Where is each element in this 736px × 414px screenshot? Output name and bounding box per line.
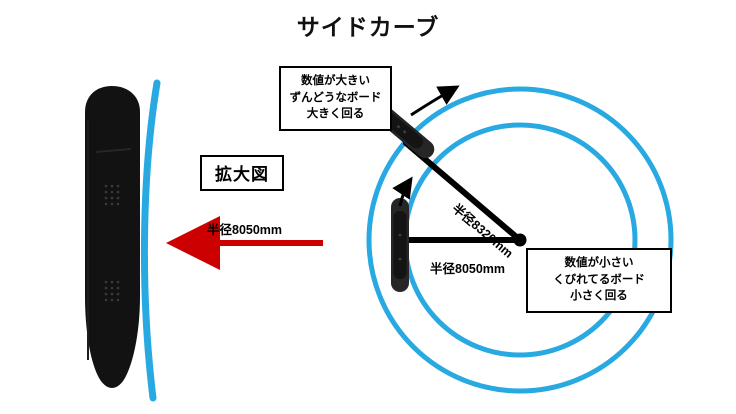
radius-label-inner: 半径8050mm	[430, 258, 505, 277]
callout-big-line3: 大きく回る	[289, 106, 382, 123]
callout-big-line1: 数値が大きい	[289, 73, 382, 90]
diagram-canvas	[0, 0, 736, 414]
callout-big-line2: ずんどうなボード	[289, 90, 382, 107]
outer-board-motion-arrow	[411, 87, 457, 115]
callout-small-line2: くびれてるボード	[536, 272, 662, 289]
left-snowboard-body	[85, 86, 140, 388]
callout-small-line3: 小さく回る	[536, 288, 662, 305]
zoom-view-label: 拡大図	[200, 155, 284, 191]
inner-snowboard	[391, 198, 409, 292]
radius-label-left-board: 半径8050mm	[207, 219, 282, 238]
left-snowboard-group	[85, 86, 140, 388]
callout-big-radius: 数値が大きい ずんどうなボード 大きく回る	[279, 66, 392, 131]
left-sidecut-arc	[144, 83, 157, 398]
diagram-page: サイドカーブ	[0, 0, 736, 414]
callout-small-line1: 数値が小さい	[536, 255, 662, 272]
callout-small-radius: 数値が小さい くびれてるボード 小さく回る	[526, 248, 672, 313]
